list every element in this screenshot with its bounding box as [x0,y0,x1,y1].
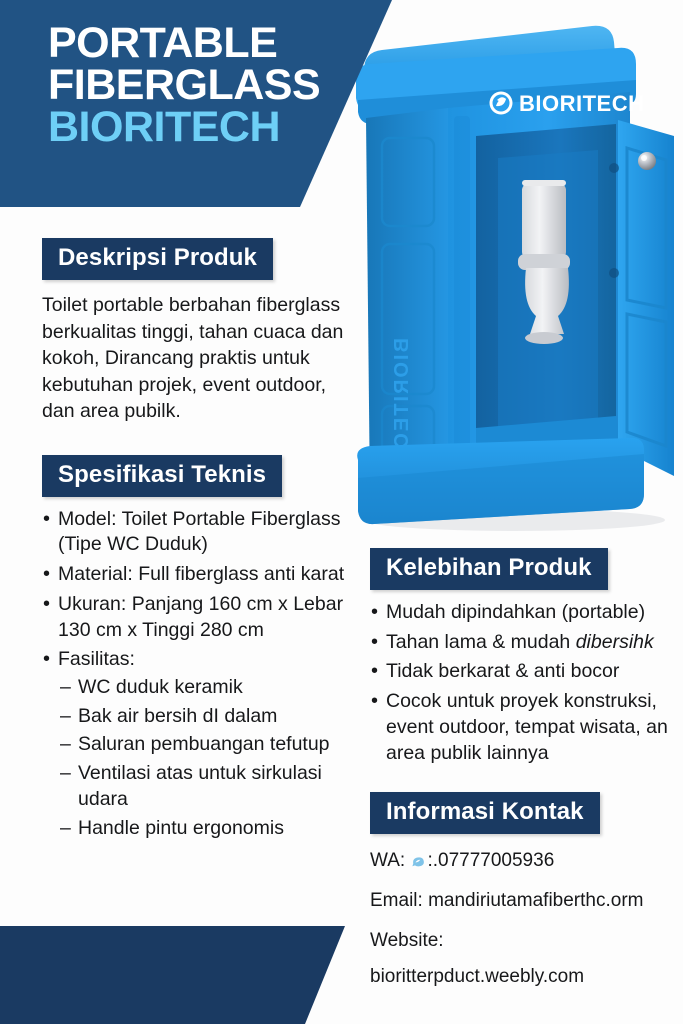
contact-badge: Informasi Kontak [370,792,600,834]
list-item: Fasilitas: WC duduk keramik Bak air bers… [42,647,360,841]
list-item: Ventilasi atas untuk sirkulasi udara [58,761,360,812]
list-item: Model: Toilet Portable Fiberglass (Tipe … [42,507,360,558]
wa-label: WA: [370,850,405,871]
list-item: WC duduk keramik [58,675,360,701]
whatsapp-icon [411,851,426,865]
svg-text:BIORITECH: BIORITECH [519,91,645,116]
specs-badge: Spesifikasi Teknis [42,455,282,497]
spacer [370,770,670,792]
brand-logo-on-product [490,92,513,115]
advantages-badge: Kelebihan Produk [370,548,608,590]
contact-website-value[interactable]: bioritterpduct.weebly.com [370,965,670,990]
item-text: Cocok untuk proyek konstruksi, event out… [386,690,668,763]
right-column: Kelebihan Produk Mudah dipindahkan (port… [370,548,670,990]
list-item: Mudah dipindahkan (portable) [370,600,670,626]
facilities-label: Fasilitas: [58,648,135,670]
list-item: Tahan lama & mudah dibersihk [370,630,670,656]
item-text: Tahan lama & mudah [386,631,576,653]
product-image: BIORITECH [330,8,683,548]
title-line-1: PORTABLE [48,22,320,64]
title-line-3: BIORITECH [48,106,320,148]
description-badge-wrap: Deskripsi Produk [42,238,360,280]
specs-badge-wrap: Spesifikasi Teknis [42,455,360,497]
list-item: Saluran pembuangan tefutup [58,732,360,758]
poster-root: BIORITECH [0,0,683,1024]
specs-list: Model: Toilet Portable Fiberglass (Tipe … [42,507,360,842]
list-item: Cocok untuk proyek konstruksi, event out… [370,689,670,766]
advantages-badge-wrap: Kelebihan Produk [370,548,670,590]
corner-decoration-bottom-left [0,926,390,1024]
list-item: Bak air bersih dI dalam [58,704,360,730]
contact-badge-wrap: Informasi Kontak [370,792,670,834]
spacer [42,425,360,455]
wa-number: :.07777005936 [427,850,554,871]
description-text: Toilet portable berbahan fiberglass berk… [42,292,360,425]
item-text-italic: dibersihk [576,631,654,653]
list-item: Ukuran: Panjang 160 cm x Lebar 130 cm x … [42,592,360,643]
title-line-2: FIBERGLASS [48,64,320,106]
list-item: Handle pintu ergonomis [58,816,360,842]
item-text: Tidak berkarat & anti bocor [386,660,619,682]
contact-email[interactable]: Email: mandiriutamafiberthc.orm [370,889,670,914]
list-item: Tidak berkarat & anti bocor [370,659,670,685]
facilities-list: WC duduk keramik Bak air bersih dI dalam… [58,675,360,841]
list-item: Material: Full fiberglass anti karat [42,562,360,588]
portable-toilet-illustration: BIORITECH [330,8,683,548]
item-text: Mudah dipindahkan (portable) [386,601,645,623]
contact-website-label: Website: [370,929,670,954]
left-column: Deskripsi Produk Toilet portable berbaha… [42,238,360,845]
open-door [618,120,674,476]
advantages-list: Mudah dipindahkan (portable) Tahan lama … [370,600,670,766]
contact-whatsapp[interactable]: WA: :.07777005936 [370,849,670,874]
page-title: PORTABLE FIBERGLASS BIORITECH [48,22,320,148]
description-badge: Deskripsi Produk [42,238,273,280]
